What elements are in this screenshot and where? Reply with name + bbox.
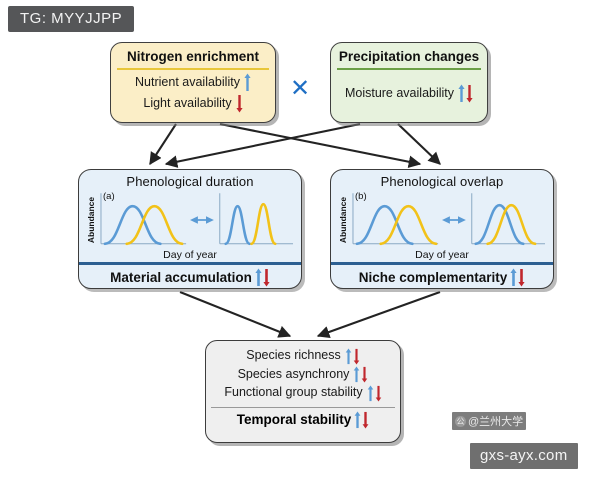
arrow-up-icon <box>244 73 251 92</box>
arrow-up-down-pair-icon <box>367 385 382 402</box>
overlap-chart: Abundance (b) <box>337 190 547 252</box>
arrow-up-down-pair-icon <box>345 348 360 365</box>
outcome-item-functional-group: Functional group stability <box>211 385 395 402</box>
nitrogen-item-nutrient-label: Nutrient availability <box>135 75 240 91</box>
nitrogen-item-nutrient: Nutrient availability <box>117 73 269 92</box>
nitrogen-rule <box>117 68 269 70</box>
outcome-box: Species richness Species asynchrony Func… <box>205 340 401 443</box>
precipitation-title: Precipitation changes <box>337 49 481 64</box>
outcome-item-asynchrony-label: Species asynchrony <box>238 367 350 383</box>
arrow-duration-to-outcome <box>180 292 290 336</box>
precipitation-item-moisture: Moisture availability <box>337 84 481 103</box>
arrow-up-down-pair-icon <box>354 411 369 429</box>
arrow-up-down-pair-icon <box>510 268 525 287</box>
outcome-item-asynchrony: Species asynchrony <box>211 366 395 383</box>
mechanism-panel-overlap: Phenological overlap Abundance (b) Da <box>330 169 554 289</box>
outcome-rule <box>211 407 395 408</box>
arrow-precip-to-overlap <box>398 124 440 164</box>
duration-panel-title: Phenological duration <box>79 170 301 189</box>
driver-box-precipitation: Precipitation changes Moisture availabil… <box>330 42 488 123</box>
outcome-item-richness-label: Species richness <box>246 348 341 364</box>
mechanism-panel-duration: Phenological duration Abundance (a) D <box>78 169 302 289</box>
overlap-curves <box>351 192 547 252</box>
arrow-down-icon <box>236 94 243 113</box>
nitrogen-item-light-label: Light availability <box>143 96 231 112</box>
duration-outcome-label: Material accumulation <box>110 270 252 285</box>
site-url-watermark: gxs-ayx.com <box>470 443 578 469</box>
outcome-summary: Temporal stability <box>211 411 395 429</box>
arrow-up-down-pair-icon <box>255 268 270 287</box>
arrow-nitrogen-to-duration <box>150 124 176 164</box>
university-watermark-text: @兰州大学 <box>468 413 523 429</box>
duration-outcome: Material accumulation <box>79 265 301 287</box>
overlap-outcome: Niche complementarity <box>331 265 553 287</box>
interaction-operator-icon: ✕ <box>287 76 313 102</box>
arrow-overlap-to-outcome <box>318 292 440 336</box>
duration-chart: Abundance (a) <box>85 190 295 252</box>
outcome-item-richness: Species richness <box>211 348 395 365</box>
duration-curves <box>99 192 295 252</box>
arrow-up-down-pair-icon <box>353 366 368 383</box>
tg-watermark-tag: TG: MYYJJPP <box>8 6 134 32</box>
overlap-panel-letter: (b) <box>355 191 367 202</box>
arrow-precip-to-duration <box>166 124 360 164</box>
precipitation-item-moisture-label: Moisture availability <box>345 86 454 102</box>
outcome-summary-label: Temporal stability <box>237 412 352 427</box>
duration-panel-letter: (a) <box>103 191 115 202</box>
nitrogen-item-light: Light availability <box>117 94 269 113</box>
precipitation-rule <box>337 68 481 70</box>
arrow-nitrogen-to-overlap <box>220 124 420 164</box>
arrow-up-down-pair-icon <box>458 84 473 103</box>
outcome-item-functional-group-label: Functional group stability <box>224 385 362 401</box>
university-logo-icon: 公 <box>455 416 466 427</box>
university-watermark: 公 @兰州大学 <box>452 412 526 430</box>
overlap-panel-title: Phenological overlap <box>331 170 553 189</box>
duration-y-axis-label: Abundance <box>85 192 98 248</box>
overlap-outcome-label: Niche complementarity <box>359 270 508 285</box>
diagram-canvas: Nitrogen enrichment Nutrient availabilit… <box>0 0 600 480</box>
driver-box-nitrogen: Nitrogen enrichment Nutrient availabilit… <box>110 42 276 123</box>
overlap-y-axis-label: Abundance <box>337 192 350 248</box>
nitrogen-title: Nitrogen enrichment <box>117 49 269 64</box>
